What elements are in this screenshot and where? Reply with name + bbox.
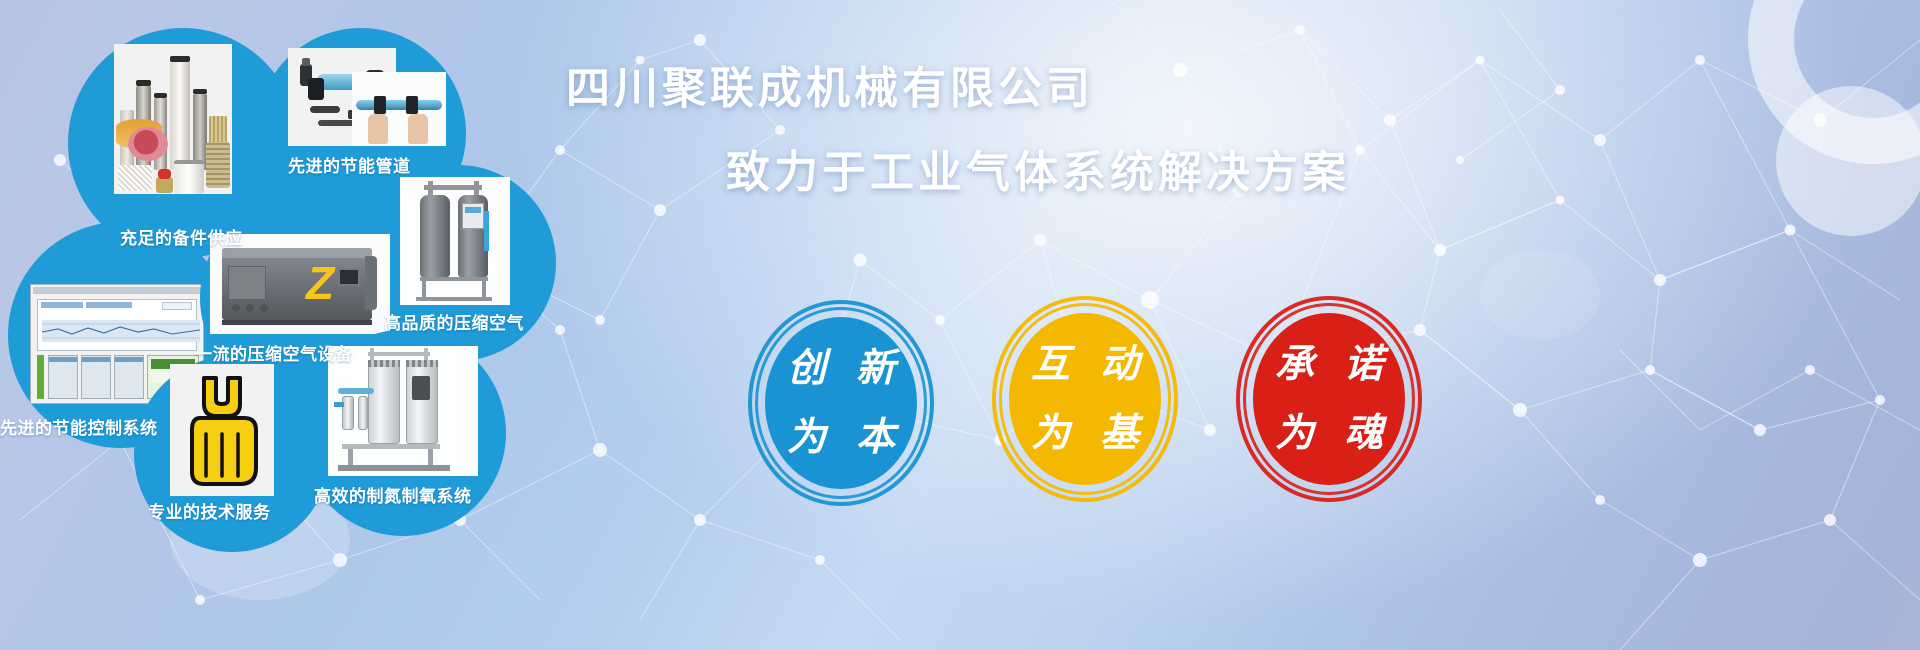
page-title: 四川聚联成机械有限公司 bbox=[566, 52, 1094, 116]
promo-banner: 充足的备件供应 先进的节能管道 bbox=[0, 0, 1920, 650]
stamp-text-innovation: 创 新 为 本 bbox=[748, 300, 934, 506]
photo-piping-installation bbox=[352, 72, 446, 146]
feature-label-nitrogen-oxygen: 高效的制氮制氧系统 bbox=[314, 482, 472, 507]
feature-label-control-system: 先进的节能控制系统 bbox=[0, 414, 158, 439]
stamp-char: 魂 bbox=[1344, 414, 1383, 453]
photo-psa-nitrogen-generator bbox=[328, 346, 478, 476]
stamp-interaction[interactable]: 互 动 为 基 bbox=[992, 296, 1178, 502]
stamp-char: 为 bbox=[1275, 414, 1314, 453]
feature-circle-tech-service[interactable]: 专业的技术服务 bbox=[134, 356, 330, 552]
stamp-char: 基 bbox=[1100, 414, 1139, 453]
stamp-text-commitment: 承 诺 为 魂 bbox=[1236, 296, 1422, 502]
photo-twin-tower-air-dryer bbox=[400, 177, 510, 305]
feature-label-compressor: 一流的压缩空气设备 bbox=[195, 340, 353, 365]
photo-industrial-filter-elements bbox=[114, 44, 232, 194]
stamp-char: 为 bbox=[787, 418, 826, 457]
stamp-char: 创 bbox=[787, 349, 826, 388]
photo-thumbs-up-wrench-icon bbox=[170, 364, 274, 496]
stamp-char: 诺 bbox=[1344, 345, 1383, 384]
feature-label-piping: 先进的节能管道 bbox=[288, 152, 411, 177]
stamp-innovation[interactable]: 创 新 为 本 bbox=[748, 300, 934, 506]
stamp-text-interaction: 互 动 为 基 bbox=[992, 296, 1178, 502]
stamp-char: 互 bbox=[1031, 345, 1070, 384]
stamp-char: 新 bbox=[856, 349, 895, 388]
photo-screw-air-compressor: Z bbox=[210, 234, 390, 334]
feature-label-tech-service: 专业的技术服务 bbox=[148, 498, 271, 523]
stamp-char: 本 bbox=[856, 418, 895, 457]
decorative-ring-small bbox=[1776, 86, 1920, 236]
stamp-char: 承 bbox=[1275, 345, 1314, 384]
decorative-ring-large bbox=[1748, 0, 1920, 164]
feature-label-compressed-air: 高品质的压缩空气 bbox=[384, 309, 524, 334]
stamp-char: 为 bbox=[1031, 414, 1070, 453]
decorative-blob-right bbox=[1480, 250, 1600, 340]
stamp-char: 动 bbox=[1100, 345, 1139, 384]
page-subtitle: 致力于工业气体系统解决方案 bbox=[726, 136, 1350, 200]
stamp-commitment[interactable]: 承 诺 为 魂 bbox=[1236, 296, 1422, 502]
feature-label-spare-parts: 充足的备件供应 bbox=[120, 224, 243, 249]
